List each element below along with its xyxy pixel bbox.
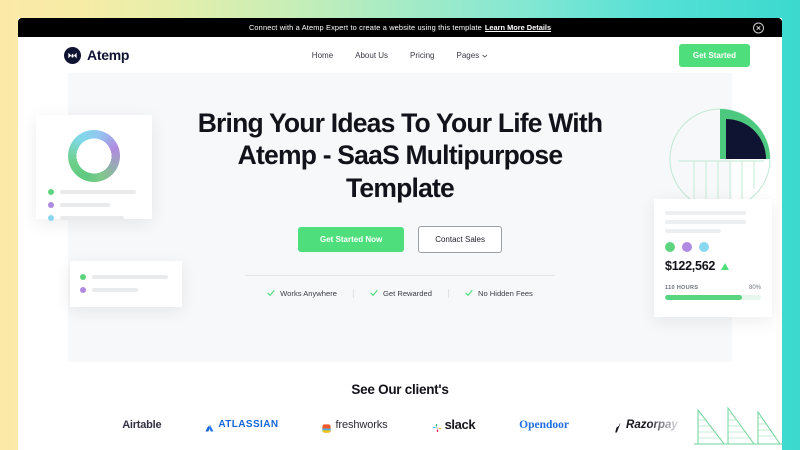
brand-logo[interactable]: Atemp <box>64 47 129 64</box>
client-logo-row: Airtable ATLASSIAN <box>18 417 782 432</box>
atemp-logo-icon <box>64 47 81 64</box>
client-logo-label: slack <box>445 417 476 432</box>
brand-name: Atemp <box>87 47 129 63</box>
hero-cta-group: Get Started Now Contact Sales <box>298 226 502 253</box>
clients-title: See Our client's <box>18 382 782 397</box>
nav-item-home[interactable]: Home <box>312 51 333 60</box>
check-icon <box>370 289 378 297</box>
get-started-button[interactable]: Get Started <box>679 44 750 67</box>
decorative-triangles-graphic <box>694 400 782 450</box>
feature-label: No Hidden Fees <box>478 289 533 298</box>
page-title: Bring Your Ideas To Your Life With Atemp… <box>190 107 610 204</box>
client-logo-label: Opendoor <box>519 419 569 431</box>
client-logo-label: freshworks <box>335 419 387 431</box>
check-icon <box>267 289 275 297</box>
divider <box>245 275 555 276</box>
feature-label: Get Rewarded <box>383 289 432 298</box>
hero-section: $122,562 110 HOURS 80% Bring Your Ideas … <box>68 73 732 362</box>
client-logo-opendoor[interactable]: Opendoor <box>519 419 569 431</box>
slack-mark-icon <box>432 420 441 429</box>
announcement-text: Connect with a Atemp Expert to create a … <box>249 23 482 32</box>
feature-works-anywhere: Works Anywhere <box>251 289 353 298</box>
client-logo-airtable[interactable]: Airtable <box>122 419 161 431</box>
feature-get-rewarded: Get Rewarded <box>353 289 448 298</box>
feature-no-hidden-fees: No Hidden Fees <box>448 289 549 298</box>
client-logo-label: ATLASSIAN <box>218 419 278 430</box>
stat-percent-label: 80% <box>749 285 761 291</box>
close-circle-icon[interactable] <box>753 22 764 33</box>
client-logo-label: Razorpay <box>626 419 678 431</box>
legend-dot-blue <box>48 215 54 221</box>
check-icon <box>465 289 473 297</box>
clients-section: See Our client's Airtable ATLASSIAN <box>18 382 782 432</box>
client-logo-slack[interactable]: slack <box>432 417 476 432</box>
client-logo-razorpay[interactable]: Razorpay <box>613 419 678 431</box>
feature-label: Works Anywhere <box>280 289 337 298</box>
navbar: Atemp Home About Us Pricing Pages Get St… <box>18 37 782 73</box>
nav-item-pages-label: Pages <box>457 51 480 60</box>
legend-dot-purple <box>48 202 54 208</box>
atlassian-mark-icon <box>205 420 214 429</box>
get-started-now-button[interactable]: Get Started Now <box>298 227 404 252</box>
client-logo-label: Airtable <box>122 419 161 431</box>
announcement-link[interactable]: Learn More Details <box>485 23 551 32</box>
razorpay-mark-icon <box>613 420 622 429</box>
nav-item-pricing[interactable]: Pricing <box>410 51 434 60</box>
page-frame: Connect with a Atemp Expert to create a … <box>18 18 782 450</box>
client-logo-atlassian[interactable]: ATLASSIAN <box>205 419 278 430</box>
chevron-down-icon <box>482 51 488 60</box>
nav-item-about-us[interactable]: About Us <box>355 51 388 60</box>
freshworks-mark-icon <box>322 420 331 429</box>
announcement-bar: Connect with a Atemp Expert to create a … <box>18 18 782 37</box>
contact-sales-button[interactable]: Contact Sales <box>418 226 502 253</box>
legend-dot-green <box>48 189 54 195</box>
nav-links: Home About Us Pricing Pages <box>312 51 488 60</box>
hero-feature-list: Works Anywhere Get Rewarded <box>251 289 549 298</box>
client-logo-freshworks[interactable]: freshworks <box>322 419 387 431</box>
hero-content: Bring Your Ideas To Your Life With Atemp… <box>68 107 732 298</box>
nav-item-pages[interactable]: Pages <box>457 51 489 60</box>
